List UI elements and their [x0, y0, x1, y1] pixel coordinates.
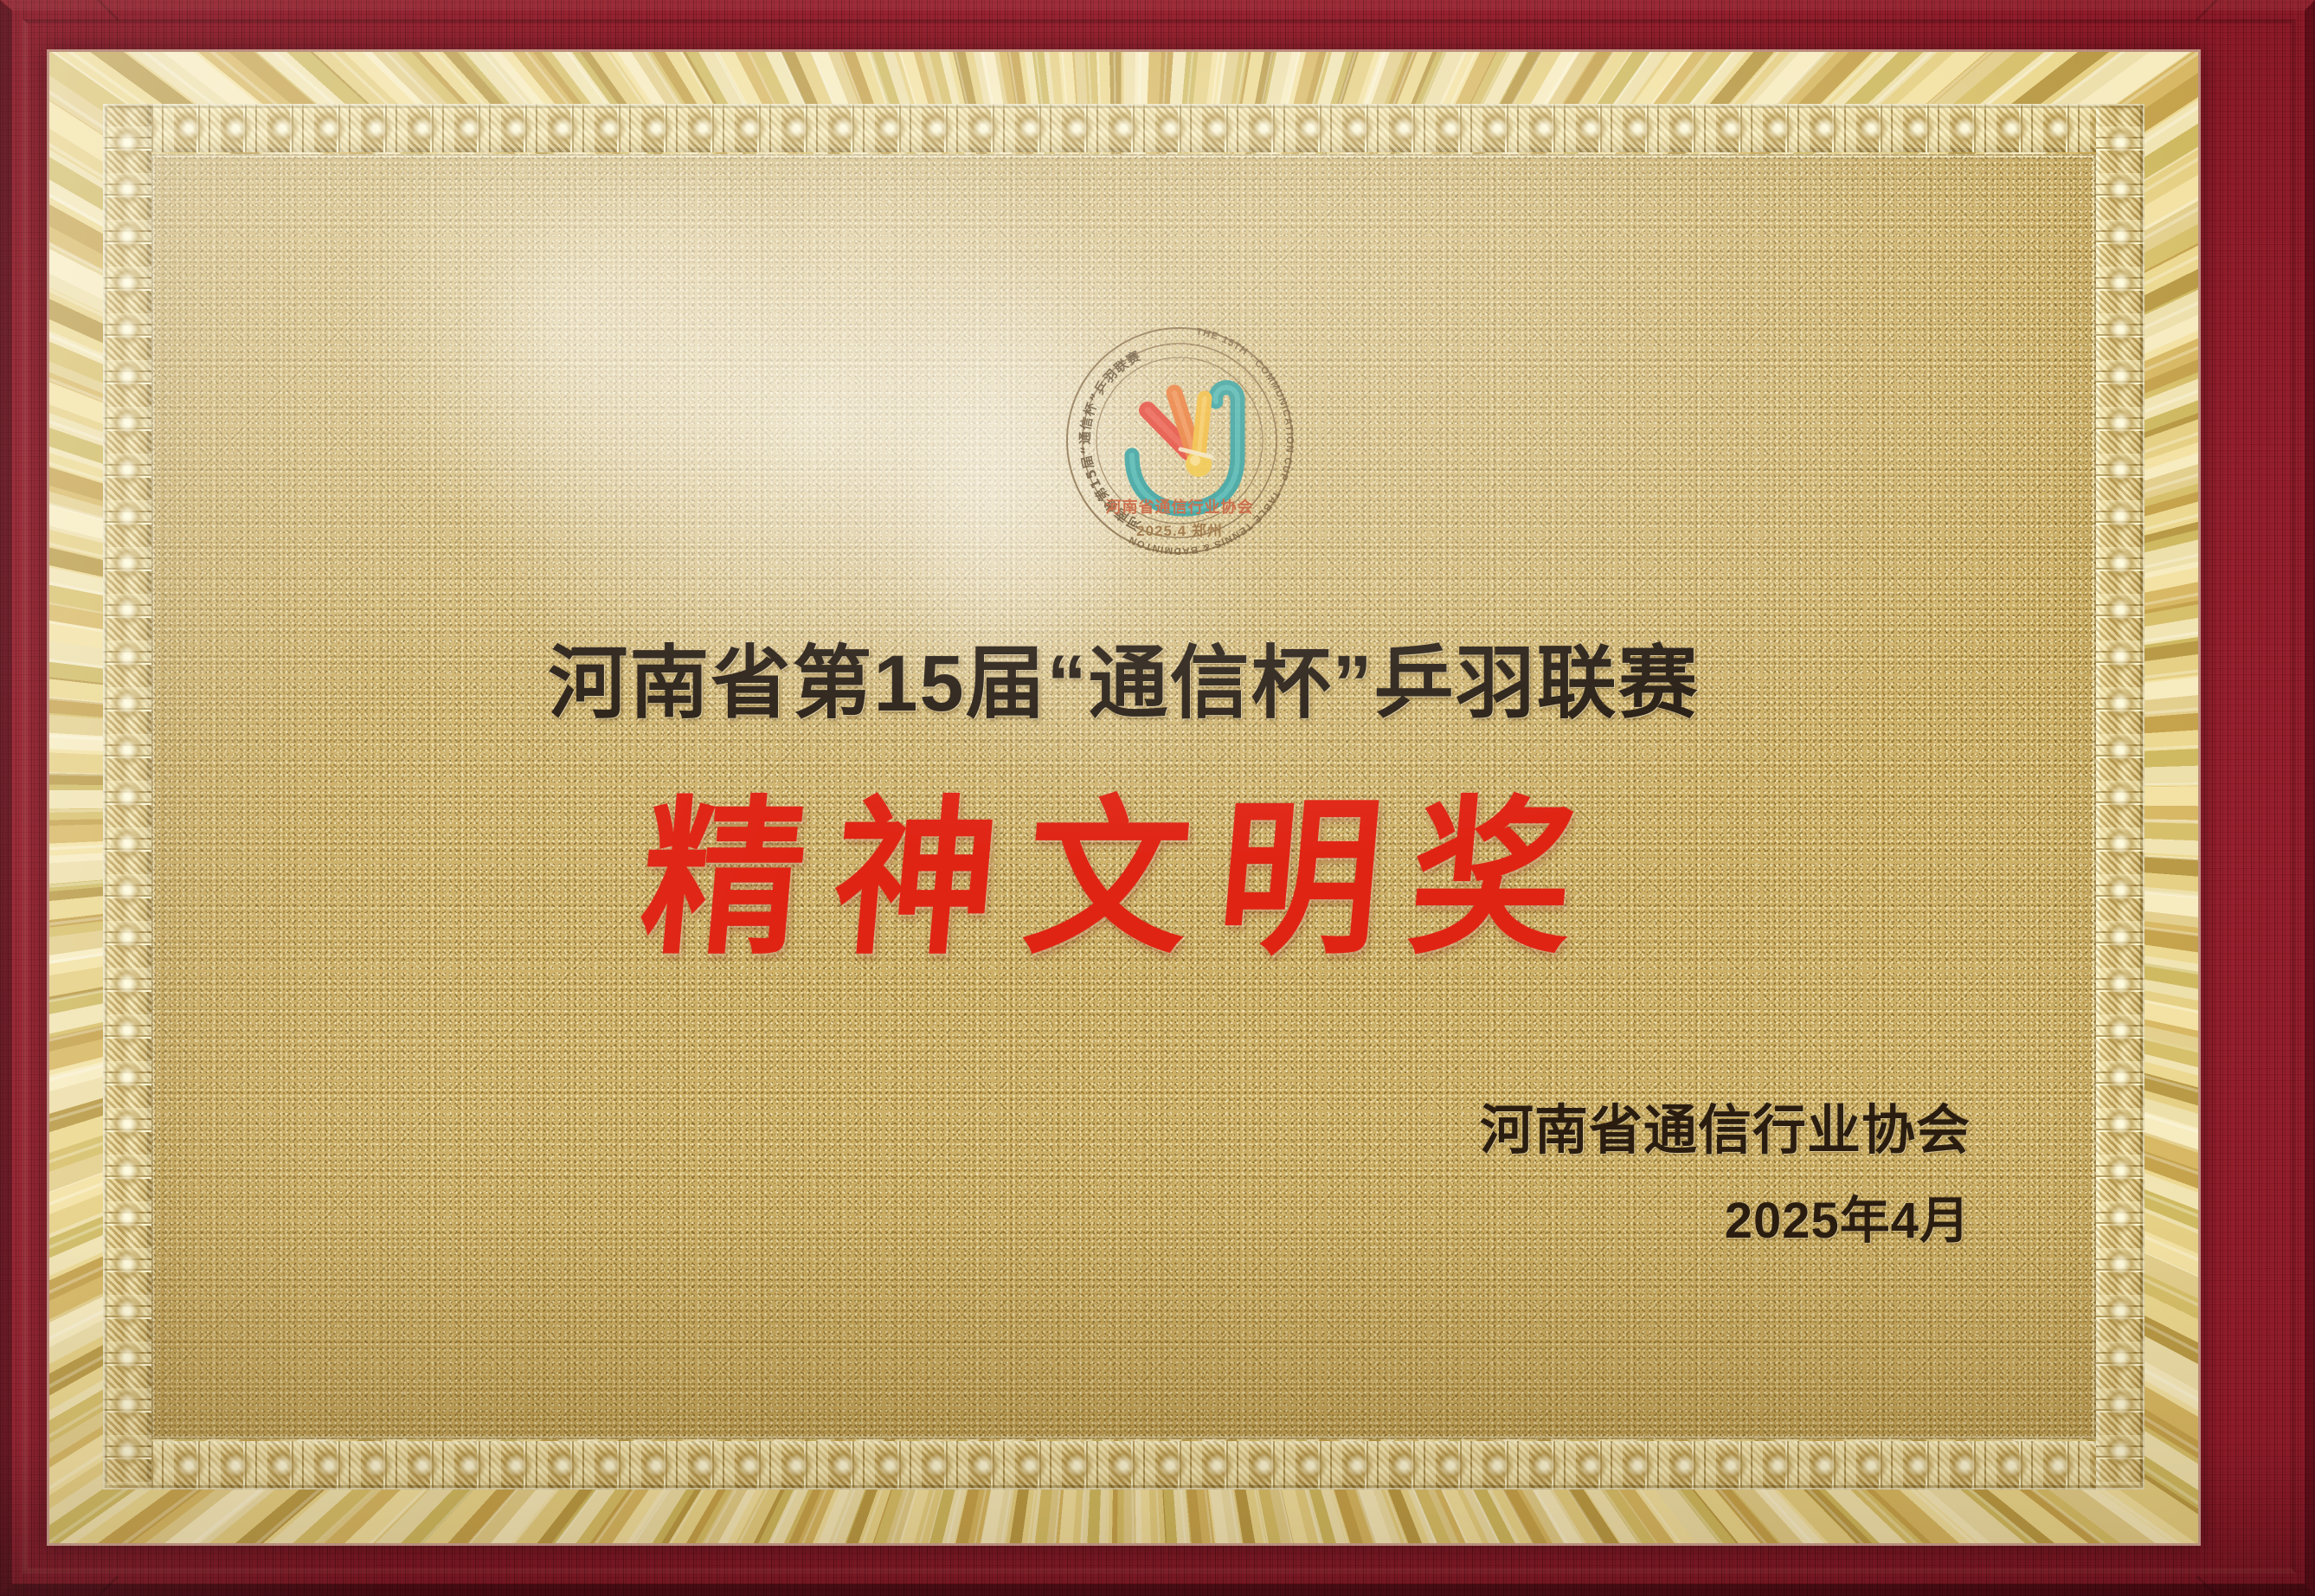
svg-text:2025.4 郑州: 2025.4 郑州 — [1136, 522, 1223, 539]
signature-block: 河南省通信行业协会 2025年4月 — [1480, 1086, 1971, 1252]
svg-text:THE 15TH · COMMUNICATION CUP ·: THE 15TH · COMMUNICATION CUP · TABLE TEN… — [1127, 326, 1295, 556]
issue-date: 2025年4月 — [1480, 1180, 1971, 1252]
tournament-logo: THE 15TH · COMMUNICATION CUP · TABLE TEN… — [1064, 325, 1295, 556]
tournament-logo-art: THE 15TH · COMMUNICATION CUP · TABLE TEN… — [1064, 325, 1295, 556]
award-name: 精神文明奖 — [151, 743, 2096, 988]
svg-text:河南省通信行业协会: 河南省通信行业协会 — [1106, 498, 1254, 517]
plaque-photo: THE 15TH · COMMUNICATION CUP · TABLE TEN… — [0, 0, 2315, 1596]
tournament-title: 河南省第15届“通信杯”乒羽联赛 — [151, 619, 2096, 734]
gold-plate: THE 15TH · COMMUNICATION CUP · TABLE TEN… — [49, 52, 2198, 1543]
issuing-organization: 河南省通信行业协会 — [1480, 1086, 1971, 1164]
inner-field: THE 15TH · COMMUNICATION CUP · TABLE TEN… — [151, 154, 2096, 1439]
